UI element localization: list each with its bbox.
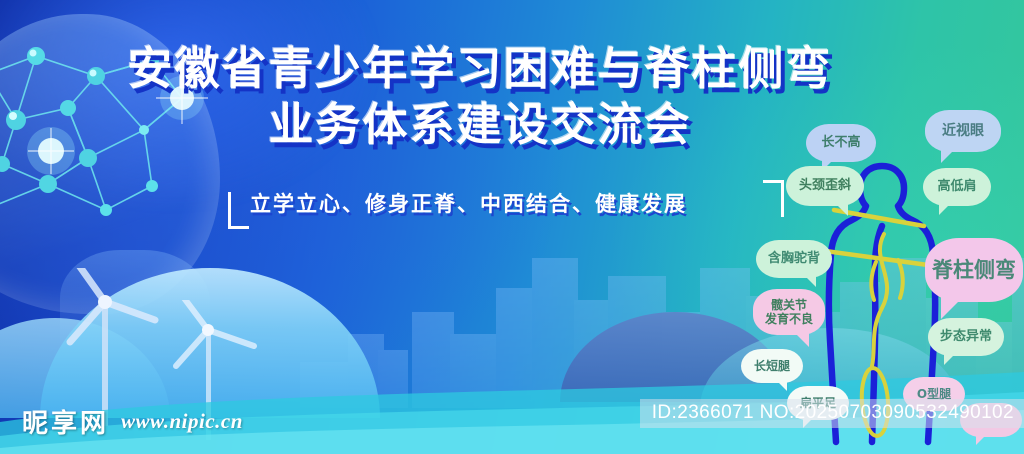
- speech-bubble-label: 头颈歪斜: [799, 178, 851, 193]
- speech-bubble-6: 脊柱侧弯: [925, 238, 1023, 302]
- speech-bubble-4: 高低肩: [923, 168, 991, 206]
- speech-bubble-label: 长短腿: [754, 359, 790, 373]
- speech-bubble-tail: [939, 199, 952, 215]
- watermark-logo: 昵享网: [22, 403, 109, 440]
- speech-bubble-label: 步态异常: [940, 329, 992, 344]
- speech-bubble-1: 长不高: [806, 124, 876, 162]
- subtitle-block: 立学立心、修身正脊、中西结合、健康发展: [228, 186, 784, 228]
- speech-bubble-9: 长短腿: [741, 349, 803, 383]
- watermark-url: www.nipic.cn: [121, 409, 243, 434]
- speech-bubble-label: 长不高: [821, 135, 860, 150]
- watermark-id-bar: ID:2366071 NO:20250703090532490102: [640, 399, 1024, 428]
- speech-bubble-3: 头颈歪斜: [786, 166, 864, 206]
- speech-bubble-tail: [941, 144, 956, 163]
- speech-bubble-label: 髋关节 发育不良: [765, 298, 813, 326]
- speech-bubble-7: 髋关节 发育不良: [753, 289, 825, 335]
- speech-bubble-tail: [793, 326, 809, 347]
- bracket-right-icon: [763, 180, 784, 217]
- speech-bubble-tail: [834, 198, 848, 216]
- speech-bubble-label: 脊柱侧弯: [932, 258, 1016, 283]
- speech-bubble-tail: [803, 271, 816, 287]
- speech-bubble-8: 步态异常: [928, 318, 1004, 356]
- speech-bubble-tail: [775, 376, 787, 391]
- speech-bubble-label: 近视眼: [942, 123, 984, 140]
- title-line-1: 安徽省青少年学习困难与脊柱侧弯: [0, 42, 960, 96]
- speech-bubble-tail: [976, 430, 988, 445]
- subtitle-text: 立学立心、修身正脊、中西结合、健康发展: [250, 188, 687, 218]
- bracket-left-icon: [228, 192, 249, 229]
- banner-canvas: 安徽省青少年学习困难与脊柱侧弯 业务体系建设交流会 立学立心、修身正脊、中西结合…: [0, 0, 1024, 454]
- watermark: 昵享网 www.nipic.cn: [22, 403, 243, 440]
- speech-bubble-2: 近视眼: [925, 110, 1001, 152]
- speech-bubble-label: 含胸驼背: [768, 251, 820, 266]
- speech-bubble-label: 高低肩: [937, 179, 976, 194]
- speech-bubble-tail: [944, 349, 957, 365]
- speech-bubble-tail: [941, 291, 962, 319]
- speech-bubble-5: 含胸驼背: [756, 240, 832, 278]
